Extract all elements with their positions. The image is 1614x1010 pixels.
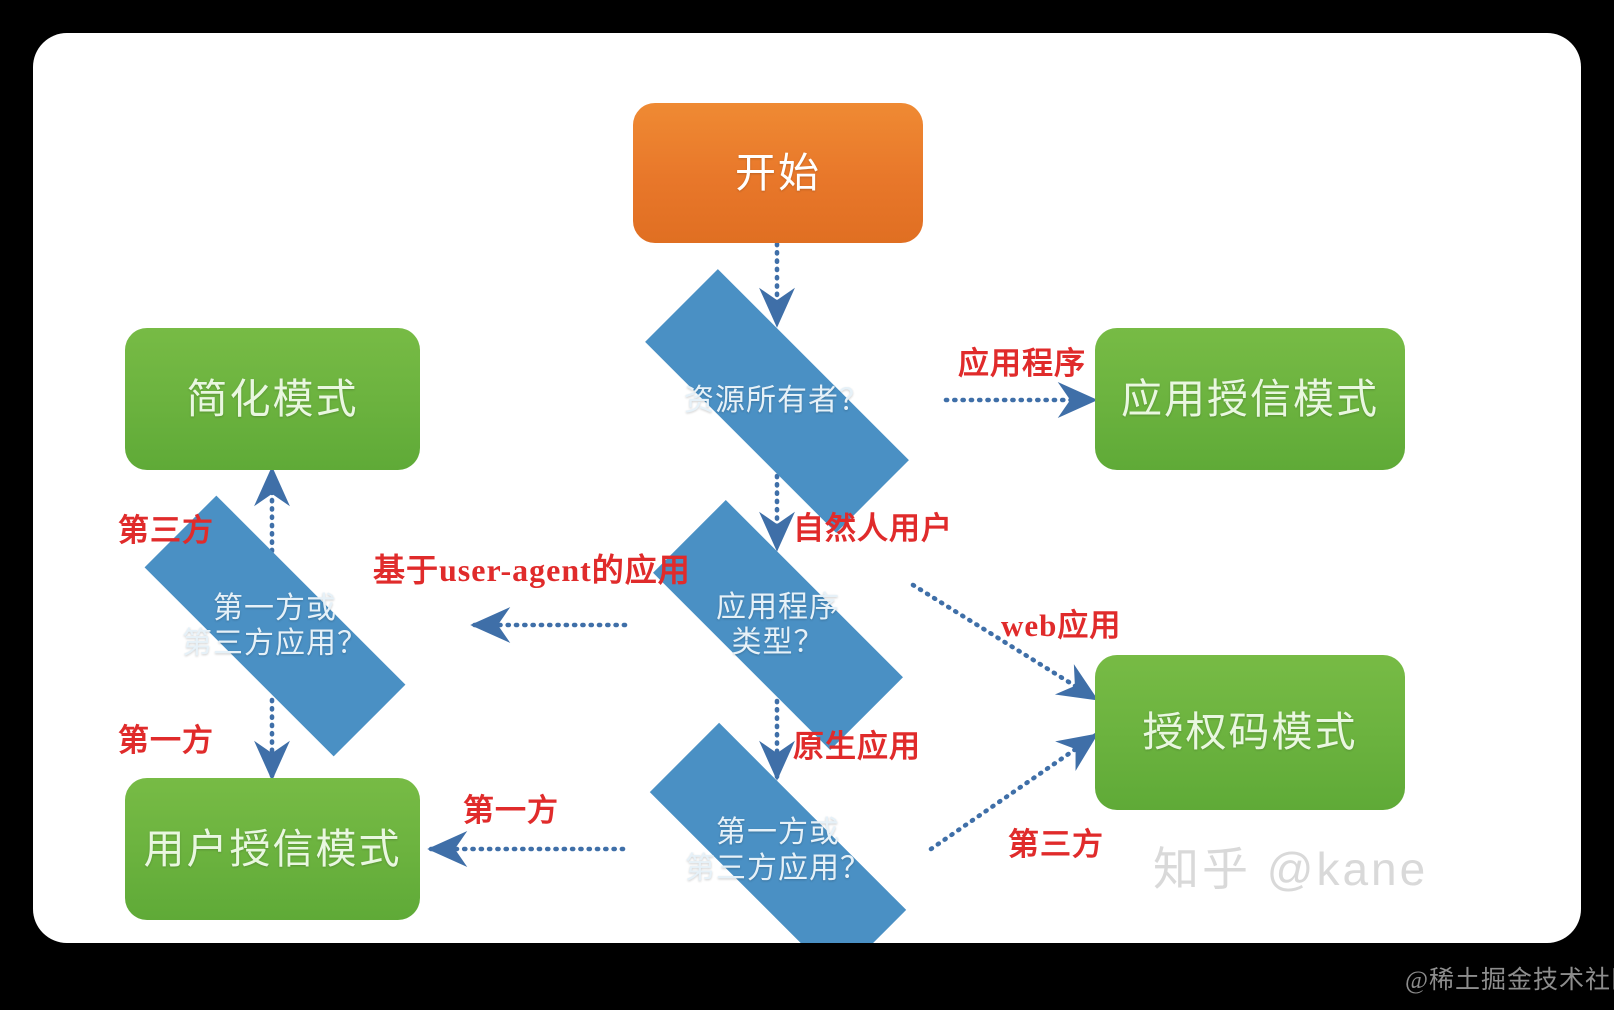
edge-label-third-party-top: 第三方 <box>118 505 214 550</box>
node-decision-resource-owner-label: 资源所有者？ <box>684 383 870 418</box>
node-result-auth-code[interactable]: 授权码模式 <box>1095 655 1405 810</box>
node-start-label: 开始 <box>735 148 821 198</box>
node-decision-party-bottom-label: 第一方或 第三方应用？ <box>685 815 871 886</box>
edge-label-first-party-left: 第一方 <box>118 715 214 760</box>
node-result-client-credentials[interactable]: 应用授信模式 <box>1095 328 1405 470</box>
screenshot-root: 开始 资源所有者？ 简化模式 应用授信模式 应用程序 类型？ 第一方或 第三方应… <box>0 0 1614 1010</box>
edge-label-native-app: 原生应用 <box>793 721 921 766</box>
node-result-auth-code-label: 授权码模式 <box>1143 707 1358 757</box>
watermark-zhihu: 知乎 @kane <box>1153 833 1428 899</box>
watermark-juejin: @稀土掘金技术社区 <box>1405 960 1614 996</box>
node-result-password-label: 用户授信模式 <box>144 824 402 874</box>
edge-label-web-app: web应用 <box>1001 600 1121 645</box>
node-result-implicit-label: 简化模式 <box>187 374 359 424</box>
edge-label-first-party-bottom: 第一方 <box>463 785 559 830</box>
node-decision-resource-owner[interactable]: 资源所有者？ <box>577 325 977 477</box>
edge-label-user-agent-app: 基于user-agent的应用 <box>373 545 691 591</box>
node-result-implicit[interactable]: 简化模式 <box>125 328 420 470</box>
edge-label-third-party-bottom: 第三方 <box>1008 819 1104 864</box>
node-decision-party-left-label: 第一方或 第三方应用？ <box>182 591 368 662</box>
diagram-canvas: 开始 资源所有者？ 简化模式 应用授信模式 应用程序 类型？ 第一方或 第三方应… <box>33 33 1581 943</box>
edge-label-app-program: 应用程序 <box>958 338 1086 383</box>
node-decision-app-type-label: 应用程序 类型？ <box>716 590 840 661</box>
node-decision-party-bottom[interactable]: 第一方或 第三方应用？ <box>583 778 973 923</box>
edge-label-natural-person: 自然人用户 <box>793 503 953 548</box>
node-result-client-credentials-label: 应用授信模式 <box>1121 374 1379 424</box>
node-start[interactable]: 开始 <box>633 103 923 243</box>
node-result-password[interactable]: 用户授信模式 <box>125 778 420 920</box>
